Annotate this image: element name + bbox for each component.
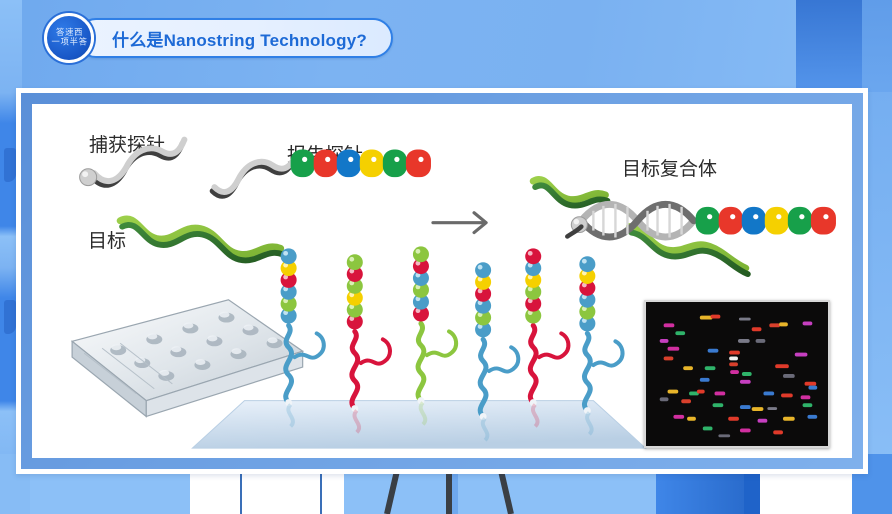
diagram-area: 捕获探针 报告探针 目标 目标复合体 (32, 104, 852, 458)
logo-line-2: 一 项 半 答 (52, 38, 87, 47)
bead (811, 207, 836, 235)
complex-bead-row (696, 207, 836, 235)
tethered-reporter (525, 248, 568, 406)
tethered-reporter (347, 254, 390, 412)
bead (314, 149, 338, 177)
reporter-probe-graphic (212, 149, 431, 196)
bead (291, 149, 315, 177)
target-strand-graphic (120, 219, 282, 260)
bead (383, 149, 407, 177)
reporter-bead-stack (475, 262, 491, 337)
capture-probe-graphic (80, 140, 185, 186)
fluorescence-micrograph (644, 300, 830, 448)
reporter-bead-stack (579, 256, 595, 331)
bead (765, 207, 789, 235)
bead (696, 207, 720, 235)
content-card: 捕获探针 报告探针 目标 目标复合体 (16, 88, 868, 474)
bead (337, 149, 361, 177)
process-arrow-icon (433, 213, 486, 233)
left-decor-nub (4, 148, 16, 182)
reporter-bead-row (291, 149, 431, 177)
tethered-reporter (413, 246, 456, 404)
sample-cartridge-graphic (72, 300, 303, 417)
tethered-reporter (579, 256, 622, 414)
reporter-bead-stack (413, 246, 429, 321)
micrograph-spots-layer (646, 302, 828, 446)
left-decor-nub (4, 300, 16, 334)
bead (406, 149, 431, 177)
reporter-bead-stack (347, 254, 363, 329)
bead (360, 149, 384, 177)
bead (719, 207, 743, 235)
tethered-reporter (475, 262, 518, 420)
tethered-reporter (281, 248, 324, 406)
target-complex-graphic (533, 179, 836, 274)
content-card-border: 捕获探针 报告探针 目标 目标复合体 (21, 93, 863, 469)
logo-glyph: 答 速 西 一 项 半 答 (52, 29, 87, 47)
top-right-decor-block (796, 0, 892, 92)
logo-line-1: 答 速 西 (52, 29, 87, 38)
bead (788, 207, 812, 235)
page-title: 什么是Nanostring Technology? (112, 26, 367, 51)
reporter-bead-stack (281, 248, 297, 323)
slide-canvas: 答 速 西 一 项 半 答 什么是Nanostring Technology? … (0, 0, 892, 514)
bead (742, 207, 766, 235)
reporter-bead-stack (525, 248, 541, 323)
title-pill: 什么是Nanostring Technology? (76, 18, 393, 58)
slide-title-bar: 答 速 西 一 项 半 答 什么是Nanostring Technology? (44, 14, 393, 62)
qa-circle-logo-icon: 答 速 西 一 项 半 答 (44, 13, 94, 63)
